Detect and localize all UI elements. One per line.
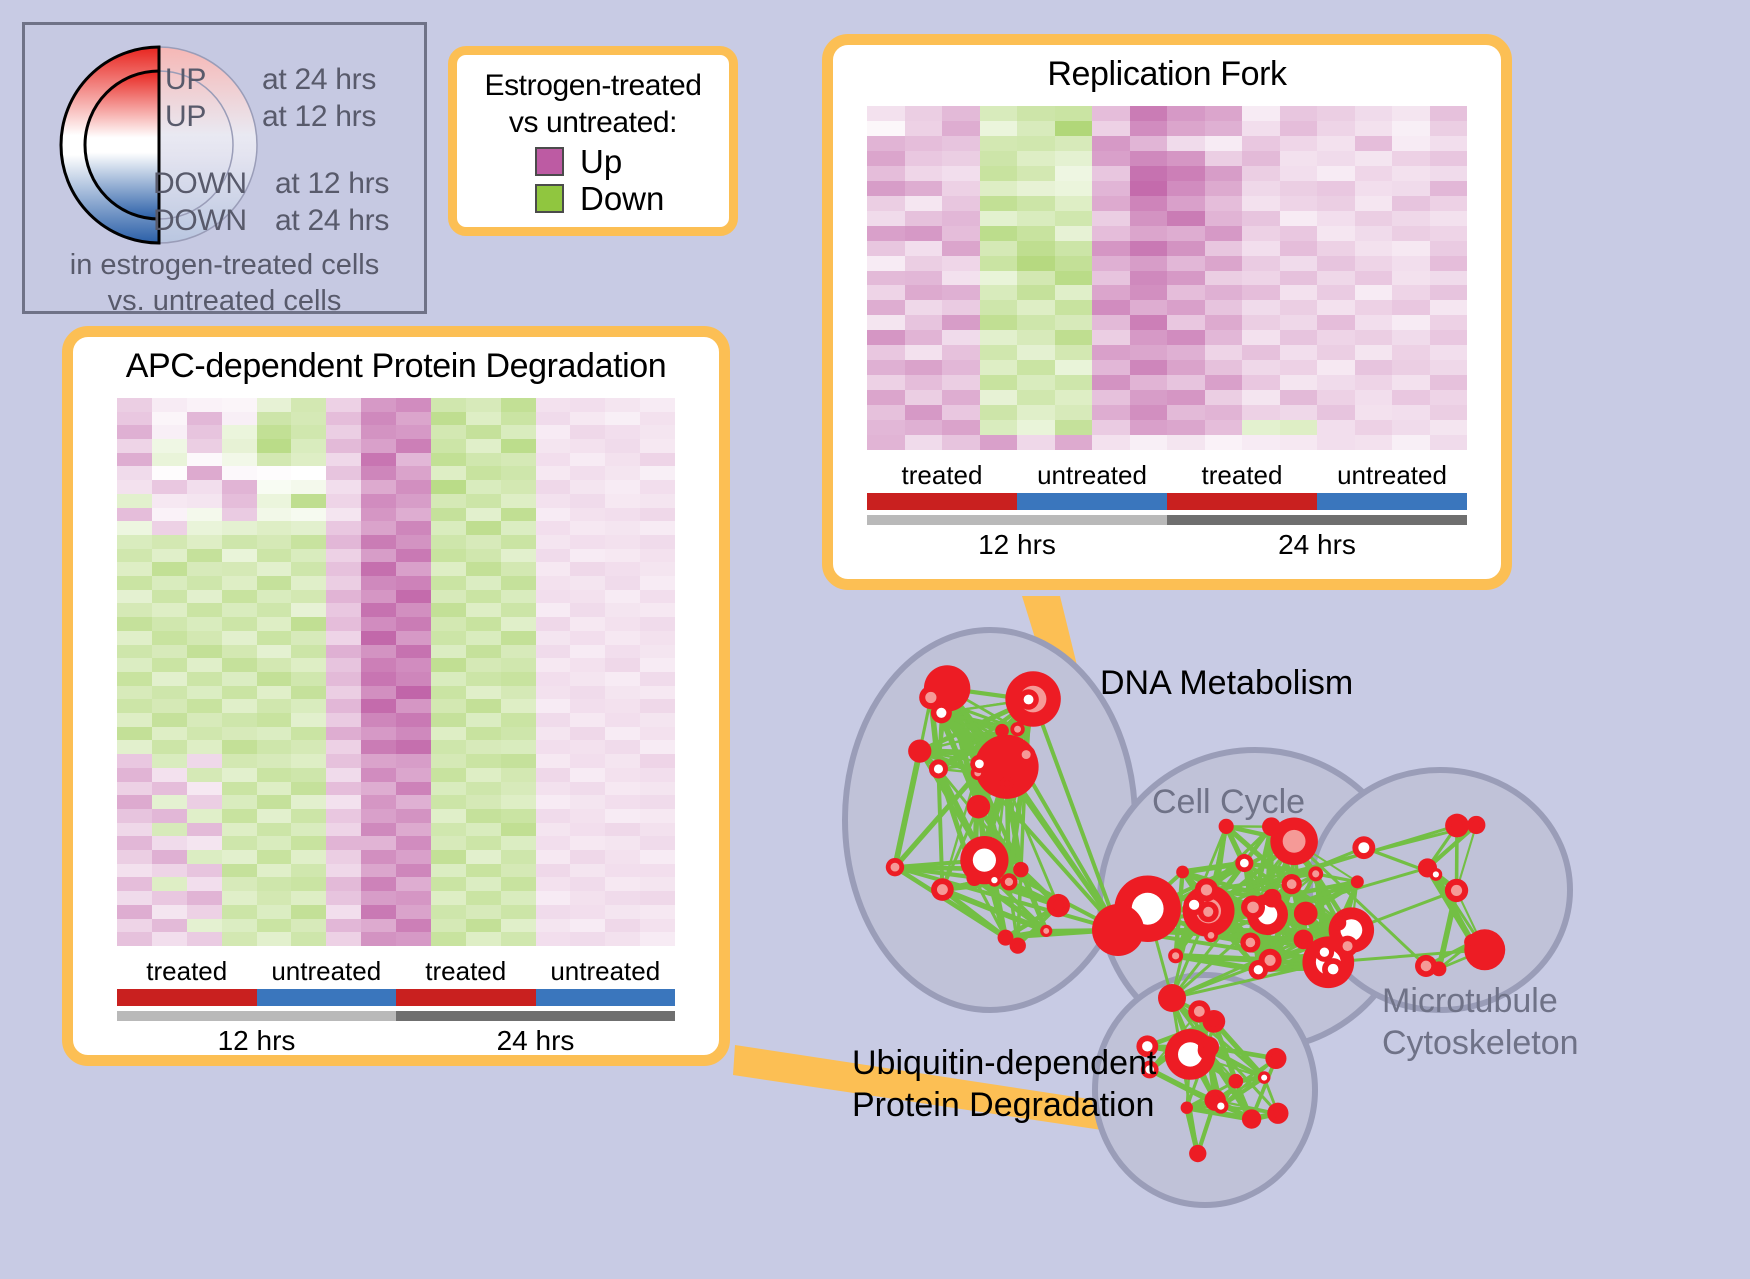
heatmap-cell bbox=[431, 836, 466, 850]
heatmap-cell bbox=[117, 480, 152, 494]
heatmap-cell bbox=[117, 645, 152, 659]
heatmap-cell bbox=[501, 877, 536, 891]
heatmap-cell bbox=[501, 521, 536, 535]
heatmap-cell bbox=[536, 686, 571, 700]
heatmap-cell bbox=[396, 864, 431, 878]
heatmap-cell bbox=[1167, 106, 1205, 121]
heatmap-cell bbox=[570, 823, 605, 837]
heatmap-cell bbox=[187, 795, 222, 809]
heatmap-cell bbox=[431, 453, 466, 467]
heatmap-cell bbox=[1130, 360, 1168, 375]
heatmap-cell bbox=[1355, 405, 1393, 420]
heatmap-cell bbox=[326, 905, 361, 919]
heatmap-cell bbox=[605, 672, 640, 686]
heatmap-cell bbox=[570, 645, 605, 659]
heatmap-cell bbox=[980, 211, 1018, 226]
heatmap-cell bbox=[117, 768, 152, 782]
heatmap-cell bbox=[326, 631, 361, 645]
heatmap-cell bbox=[1055, 330, 1093, 345]
heatmap-cell bbox=[867, 375, 905, 390]
network-node bbox=[1213, 1099, 1228, 1114]
heatmap-cell bbox=[942, 121, 980, 136]
heatmap-cell bbox=[1205, 181, 1243, 196]
heatmap-cell bbox=[222, 562, 257, 576]
heatmap-cell bbox=[187, 836, 222, 850]
heatmap-cell bbox=[501, 439, 536, 453]
heatmap-cell bbox=[867, 211, 905, 226]
heatmap-cell bbox=[905, 256, 943, 271]
heatmap-cell bbox=[361, 740, 396, 754]
heatmap-cell bbox=[570, 398, 605, 412]
heatmap-cell bbox=[222, 412, 257, 426]
heatmap-cell bbox=[1130, 300, 1168, 315]
heatmap-cell bbox=[361, 823, 396, 837]
heatmap-cell bbox=[396, 658, 431, 672]
heatmap-cell bbox=[1092, 106, 1130, 121]
heatmap-cell bbox=[1242, 285, 1280, 300]
heatmap-cell bbox=[1205, 405, 1243, 420]
heatmap-cell bbox=[257, 699, 292, 713]
heatmap-cell bbox=[152, 603, 187, 617]
network-node bbox=[1240, 932, 1260, 952]
heatmap-cell bbox=[536, 576, 571, 590]
heatmap-cell bbox=[1167, 181, 1205, 196]
heatmap-cell bbox=[640, 425, 675, 439]
heatmap-cell bbox=[640, 740, 675, 754]
heatmap-cell bbox=[117, 425, 152, 439]
heatmap-cell bbox=[117, 877, 152, 891]
heatmap-cell bbox=[905, 375, 943, 390]
heatmap-cell bbox=[640, 672, 675, 686]
network-node bbox=[1242, 1109, 1261, 1128]
heatmap-cell bbox=[326, 603, 361, 617]
heatmap-cell bbox=[326, 877, 361, 891]
heatmap-cell bbox=[1167, 121, 1205, 136]
heatmap-cell bbox=[431, 439, 466, 453]
heatmap-cell bbox=[605, 412, 640, 426]
heatmap-cell bbox=[117, 905, 152, 919]
heatmap-cell bbox=[1242, 271, 1280, 286]
heatmap-cell bbox=[431, 809, 466, 823]
heatmap-cell bbox=[867, 241, 905, 256]
heatmap-cell bbox=[187, 603, 222, 617]
heatmap-cell bbox=[1017, 106, 1055, 121]
heatmap-cell bbox=[117, 576, 152, 590]
heatmap-cell bbox=[257, 480, 292, 494]
heatmap-cell bbox=[905, 121, 943, 136]
network-node bbox=[1013, 862, 1028, 877]
heatmap-cell bbox=[867, 285, 905, 300]
heatmap-cell bbox=[570, 658, 605, 672]
heatmap-cell bbox=[117, 631, 152, 645]
heatmap-cell bbox=[431, 549, 466, 563]
heatmap-cell bbox=[501, 754, 536, 768]
heatmap-cell bbox=[1355, 345, 1393, 360]
heatmap-cell bbox=[501, 535, 536, 549]
heatmap-cell bbox=[326, 398, 361, 412]
heatmap-cell bbox=[501, 412, 536, 426]
heatmap-cell bbox=[431, 782, 466, 796]
heatmap-cell bbox=[1055, 375, 1093, 390]
heatmap-cell bbox=[466, 809, 501, 823]
heatmap-cell bbox=[640, 549, 675, 563]
heatmap-cell bbox=[605, 535, 640, 549]
heatmap-cell bbox=[257, 877, 292, 891]
heatmap-cell bbox=[867, 405, 905, 420]
heatmap-cell bbox=[257, 494, 292, 508]
heatmap-cell bbox=[1280, 211, 1318, 226]
heatmap-cell bbox=[466, 603, 501, 617]
heatmap-cell bbox=[291, 425, 326, 439]
heatmap-cell bbox=[1017, 390, 1055, 405]
heatmap-cell bbox=[605, 836, 640, 850]
heatmap-cell bbox=[1392, 121, 1430, 136]
heatmap-cell bbox=[396, 439, 431, 453]
heatmap-cell bbox=[396, 617, 431, 631]
heatmap-cell bbox=[152, 562, 187, 576]
heatmap-cell bbox=[867, 106, 905, 121]
heatmap-cell bbox=[536, 864, 571, 878]
heatmap-cell bbox=[1242, 405, 1280, 420]
heatmap-cell bbox=[222, 932, 257, 946]
heatmap-cell bbox=[361, 603, 396, 617]
cluster-label-microtubule-line1: Microtubule bbox=[1382, 980, 1579, 1022]
heatmap-cell bbox=[942, 345, 980, 360]
heatmap-cell bbox=[431, 740, 466, 754]
heatmap-cell bbox=[222, 850, 257, 864]
heatmap-cell bbox=[361, 905, 396, 919]
heatmap-cell bbox=[396, 919, 431, 933]
time-label-apc-24: 24 hrs bbox=[396, 1025, 675, 1057]
heatmap-cell bbox=[257, 549, 292, 563]
heatmap-cell bbox=[187, 672, 222, 686]
heatmap-cell bbox=[1055, 196, 1093, 211]
heatmap-cell bbox=[536, 891, 571, 905]
heatmap-cell bbox=[117, 782, 152, 796]
heatmap-cell bbox=[466, 549, 501, 563]
heatmap-cell bbox=[1280, 315, 1318, 330]
network-node bbox=[1258, 1071, 1271, 1084]
heatmap-cell bbox=[222, 891, 257, 905]
heatmap-cell bbox=[1430, 106, 1468, 121]
network-node bbox=[1204, 928, 1218, 942]
heatmap-cell bbox=[1242, 241, 1280, 256]
heatmap-cell bbox=[187, 494, 222, 508]
network-node bbox=[967, 795, 991, 819]
heatmap-cell bbox=[501, 645, 536, 659]
heatmap-cell bbox=[1242, 390, 1280, 405]
heatmap-cell bbox=[257, 631, 292, 645]
heatmap-cell bbox=[1317, 256, 1355, 271]
heatmap-cell bbox=[640, 412, 675, 426]
heatmap-cell bbox=[570, 412, 605, 426]
heatmap-cell bbox=[1130, 151, 1168, 166]
heatmap-cell bbox=[605, 768, 640, 782]
heatmap-cell bbox=[640, 768, 675, 782]
network-node bbox=[1352, 836, 1375, 859]
bar-apc-treated-24 bbox=[396, 989, 536, 1006]
heatmap-cell bbox=[431, 905, 466, 919]
network-node bbox=[1158, 984, 1186, 1012]
heatmap-cell bbox=[257, 535, 292, 549]
heatmap-cell bbox=[536, 877, 571, 891]
heatmap-cell bbox=[501, 919, 536, 933]
heatmap-cell bbox=[570, 494, 605, 508]
heatmap-cell bbox=[222, 768, 257, 782]
heatmap-cell bbox=[361, 631, 396, 645]
heatmap-cell bbox=[117, 823, 152, 837]
bar-apc-time-24 bbox=[396, 1011, 675, 1021]
bar-treated-24 bbox=[1167, 493, 1317, 510]
heatmap-cell bbox=[570, 836, 605, 850]
heatmap-cell bbox=[570, 809, 605, 823]
heatmap-cell bbox=[570, 768, 605, 782]
heatmap-cell bbox=[1317, 106, 1355, 121]
heatmap-cell bbox=[1130, 136, 1168, 151]
heatmap-cell bbox=[466, 891, 501, 905]
heatmap-cell bbox=[1130, 271, 1168, 286]
heatmap-cell bbox=[640, 850, 675, 864]
heatmap-cell bbox=[1355, 226, 1393, 241]
heatmap-cell bbox=[222, 782, 257, 796]
heatmap-cell bbox=[1167, 345, 1205, 360]
heatmap-cell bbox=[1430, 256, 1468, 271]
heatmap-cell bbox=[867, 136, 905, 151]
heatmap-cell bbox=[640, 877, 675, 891]
heatmap-cell bbox=[326, 795, 361, 809]
heatmap-cell bbox=[942, 181, 980, 196]
heatmap-cell bbox=[905, 390, 943, 405]
heatmap-cell bbox=[1430, 211, 1468, 226]
heatmap-cell bbox=[640, 494, 675, 508]
heatmap-cell bbox=[1317, 420, 1355, 435]
heatmap-cell bbox=[1430, 435, 1468, 450]
heatmap-cell bbox=[942, 435, 980, 450]
heatmap-cell bbox=[187, 932, 222, 946]
heatmap-cell bbox=[536, 562, 571, 576]
heatmap-cell bbox=[466, 631, 501, 645]
heatmap-cell bbox=[466, 768, 501, 782]
heatmap-cell bbox=[222, 809, 257, 823]
heatmap-cell bbox=[1430, 181, 1468, 196]
heatmap-cell bbox=[466, 877, 501, 891]
cluster-label-ubiquitin: Ubiquitin-dependent Protein Degradation bbox=[852, 1042, 1156, 1126]
heatmap-cell bbox=[361, 453, 396, 467]
heatmap-cell bbox=[326, 864, 361, 878]
heatmap-cell bbox=[942, 390, 980, 405]
heatmap-cell bbox=[1430, 345, 1468, 360]
heatmap-cell bbox=[152, 699, 187, 713]
heatmap-cell bbox=[1130, 390, 1168, 405]
heatmap-cell bbox=[431, 521, 466, 535]
heatmap-cell bbox=[117, 590, 152, 604]
heatmap-cell bbox=[536, 425, 571, 439]
heatmap-cell bbox=[431, 768, 466, 782]
heatmap-cell bbox=[187, 658, 222, 672]
heatmap-cell bbox=[431, 535, 466, 549]
network-node bbox=[1351, 875, 1364, 888]
heatmap-cell bbox=[291, 672, 326, 686]
heatmap-cell bbox=[117, 603, 152, 617]
heatmap-cell bbox=[905, 106, 943, 121]
heatmap-cell bbox=[605, 932, 640, 946]
heatmap-cell bbox=[570, 453, 605, 467]
heatmap-cell bbox=[536, 521, 571, 535]
heatmap-cell bbox=[187, 590, 222, 604]
heatmap-cell bbox=[187, 877, 222, 891]
heatmap-cell bbox=[1017, 300, 1055, 315]
heatmap-cell bbox=[152, 480, 187, 494]
heatmap-cell bbox=[867, 181, 905, 196]
heatmap-cell bbox=[1205, 256, 1243, 271]
heatmap-cell bbox=[867, 360, 905, 375]
heatmap-cell bbox=[396, 836, 431, 850]
heatmap-cell bbox=[570, 631, 605, 645]
heatmap-cell bbox=[152, 521, 187, 535]
heatmap-cell bbox=[536, 919, 571, 933]
heatmap-cell bbox=[291, 686, 326, 700]
heatmap-cell bbox=[291, 480, 326, 494]
heatmap-cell bbox=[291, 891, 326, 905]
heatmap-cell bbox=[187, 809, 222, 823]
heatmap-cell bbox=[867, 151, 905, 166]
heatmap-cell bbox=[640, 727, 675, 741]
panel-title-apc: APC-dependent Protein Degradation bbox=[73, 347, 719, 386]
network-node bbox=[886, 858, 904, 876]
heatmap-cell bbox=[1130, 405, 1168, 420]
heatmap-cell bbox=[1242, 151, 1280, 166]
heatmap-cell bbox=[1017, 226, 1055, 241]
heatmap-cell bbox=[466, 850, 501, 864]
heatmap-cell bbox=[466, 795, 501, 809]
heatmap-cell bbox=[1317, 271, 1355, 286]
heatmap-cell bbox=[1092, 226, 1130, 241]
heatmap-cell bbox=[1317, 181, 1355, 196]
heatmap-cell bbox=[501, 727, 536, 741]
heatmap-cell bbox=[1317, 285, 1355, 300]
heatmap-cell bbox=[942, 256, 980, 271]
heatmap-cell bbox=[536, 782, 571, 796]
heatmap-cell bbox=[501, 768, 536, 782]
network-node bbox=[1294, 902, 1318, 926]
heatmap-cell bbox=[431, 590, 466, 604]
heatmap-cell bbox=[117, 466, 152, 480]
heatmap-cell bbox=[152, 658, 187, 672]
heatmap-cell bbox=[257, 782, 292, 796]
heatmap-cell bbox=[1130, 420, 1168, 435]
heatmap-cell bbox=[640, 645, 675, 659]
heatmap-cell bbox=[361, 549, 396, 563]
heatmap-cell bbox=[466, 919, 501, 933]
heatmap-cell bbox=[291, 754, 326, 768]
heatmap-cell bbox=[536, 617, 571, 631]
heatmap-cell bbox=[501, 508, 536, 522]
heatmap-cell bbox=[361, 686, 396, 700]
heatmap-cell bbox=[152, 905, 187, 919]
heatmap-cell bbox=[1055, 136, 1093, 151]
heatmap-cell bbox=[536, 466, 571, 480]
heatmap-cell bbox=[1055, 256, 1093, 271]
heatmap-cell bbox=[1355, 390, 1393, 405]
heatmap-cell bbox=[1392, 285, 1430, 300]
heatmap-cell bbox=[1055, 285, 1093, 300]
heatmap-cell bbox=[1392, 166, 1430, 181]
heatmap-cell bbox=[536, 398, 571, 412]
heatmap-cell bbox=[1130, 435, 1168, 450]
heatmap-cell bbox=[536, 672, 571, 686]
heatmap-cell bbox=[905, 211, 943, 226]
heatmap-cell bbox=[1092, 121, 1130, 136]
heatmap-cell bbox=[1017, 375, 1055, 390]
heatmap-cell bbox=[536, 590, 571, 604]
heatmap-cell bbox=[536, 905, 571, 919]
heatmap-cell bbox=[1430, 375, 1468, 390]
heatmap-cell bbox=[1355, 211, 1393, 226]
heatmap-cell bbox=[326, 453, 361, 467]
heatmap-cell bbox=[942, 285, 980, 300]
heatmap-cell bbox=[117, 699, 152, 713]
heatmap-cell bbox=[291, 850, 326, 864]
heatmap-cell bbox=[222, 425, 257, 439]
heatmap-cell bbox=[117, 398, 152, 412]
heatmap-cell bbox=[570, 699, 605, 713]
heatmap-cell bbox=[905, 435, 943, 450]
heatmap-cell bbox=[257, 658, 292, 672]
heatmap-cell bbox=[1167, 435, 1205, 450]
heatmap-cell bbox=[1392, 360, 1430, 375]
heatmap-cell bbox=[396, 932, 431, 946]
heatmap-cell bbox=[326, 699, 361, 713]
heatmap-cell bbox=[1130, 106, 1168, 121]
heatmap-cell bbox=[1392, 405, 1430, 420]
heatmap-cell bbox=[570, 864, 605, 878]
heatmap-cell bbox=[152, 494, 187, 508]
heatmap-cell bbox=[431, 658, 466, 672]
heatmap-cell bbox=[431, 480, 466, 494]
heatmap-cell bbox=[1430, 420, 1468, 435]
heatmap-cell bbox=[396, 603, 431, 617]
heatmap-cell bbox=[396, 877, 431, 891]
heatmap-cell bbox=[1167, 285, 1205, 300]
heatmap-cell bbox=[640, 932, 675, 946]
heatmap-cell bbox=[536, 713, 571, 727]
heatmap-cell bbox=[222, 686, 257, 700]
heatmap-cell bbox=[257, 645, 292, 659]
heatmap-cell bbox=[466, 782, 501, 796]
heatmap-cell bbox=[1242, 375, 1280, 390]
heatmap-cell bbox=[117, 864, 152, 878]
heatmap-cell bbox=[222, 535, 257, 549]
heatmap-cell bbox=[222, 494, 257, 508]
heatmap-cell bbox=[1130, 345, 1168, 360]
heatmap-cell bbox=[222, 713, 257, 727]
network-node bbox=[1265, 1048, 1286, 1069]
heatmap-cell bbox=[980, 136, 1018, 151]
heatmap-cell bbox=[1092, 196, 1130, 211]
heatmap-cell bbox=[396, 412, 431, 426]
heatmap-cell bbox=[291, 795, 326, 809]
heatmap-cell bbox=[222, 576, 257, 590]
heatmap-cell bbox=[187, 466, 222, 480]
heatmap-cell bbox=[257, 727, 292, 741]
heatmap-cell bbox=[1242, 106, 1280, 121]
heatmap-cell bbox=[1355, 106, 1393, 121]
heatmap-cell bbox=[605, 740, 640, 754]
heatmap-cell bbox=[1430, 121, 1468, 136]
heatmap-cell bbox=[570, 713, 605, 727]
heatmap-cell bbox=[187, 535, 222, 549]
heatmap-cell bbox=[1017, 211, 1055, 226]
